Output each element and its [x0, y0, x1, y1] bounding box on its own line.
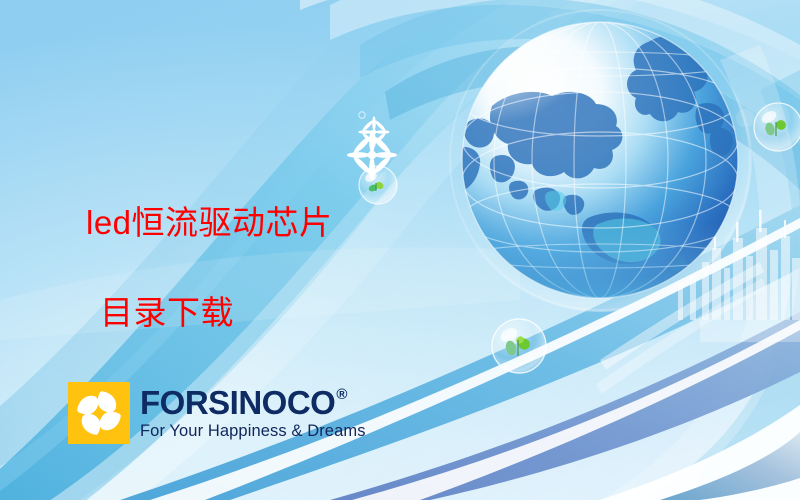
company-logo[interactable]: FORSINOCO® For Your Happiness & Dreams	[68, 382, 366, 444]
logo-text-group: FORSINOCO® For Your Happiness & Dreams	[140, 386, 366, 440]
logo-wordmark: FORSINOCO®	[140, 386, 366, 419]
four-petal-pinwheel-icon	[68, 382, 130, 444]
registered-trademark-icon: ®	[336, 387, 347, 402]
bubble-icon	[736, 109, 754, 127]
logo-wordmark-text: FORSINOCO	[140, 386, 335, 419]
bubble-icon	[359, 166, 397, 204]
bubble-icon	[754, 103, 800, 151]
headline-text: led恒流驱动芯片 目录下载	[86, 166, 333, 371]
bubble-icon	[492, 319, 546, 373]
headline-line-1: led恒流驱动芯片	[86, 204, 333, 243]
headline-line-2: 目录下载	[100, 294, 333, 333]
logo-tagline: For Your Happiness & Dreams	[140, 423, 366, 440]
promo-banner: led恒流驱动芯片 目录下载 FORSINOCO®	[0, 0, 800, 500]
